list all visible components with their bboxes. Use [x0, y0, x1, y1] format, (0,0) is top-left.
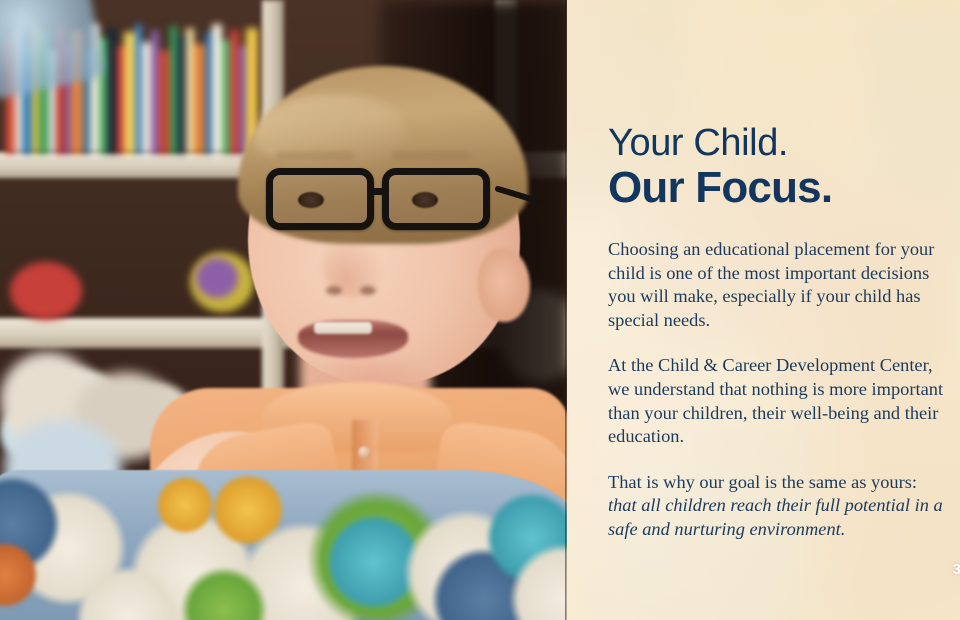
- body-copy: Choosing an educational placement for yo…: [608, 238, 944, 542]
- paragraph-3-lead: That is why our goal is the same as your…: [608, 472, 917, 492]
- ear: [478, 248, 530, 322]
- brochure-spread: Your Child. Our Focus. Choosing an educa…: [0, 0, 960, 620]
- glasses-bridge: [370, 188, 388, 195]
- paragraph-1: Choosing an educational placement for yo…: [608, 238, 944, 332]
- page-number: 3: [953, 561, 960, 578]
- headline-line-2: Our Focus.: [608, 164, 938, 212]
- nostril-right: [360, 286, 376, 295]
- paragraph-3-italic: that all children reach their full poten…: [608, 495, 943, 539]
- text-panel: Your Child. Our Focus. Choosing an educa…: [567, 0, 960, 620]
- paragraph-3: That is why our goal is the same as your…: [608, 471, 944, 542]
- eye-right: [412, 192, 438, 208]
- teeth: [314, 322, 372, 334]
- page-title: Your Child. Our Focus.: [608, 122, 938, 212]
- shirt-button: [358, 446, 371, 459]
- nostril-left: [326, 286, 342, 295]
- floral-blanket: [0, 470, 567, 620]
- text-content: Your Child. Our Focus. Choosing an educa…: [608, 0, 938, 620]
- headline-line-1: Your Child.: [608, 122, 938, 164]
- eyebrow-right: [392, 152, 470, 160]
- eye-left: [298, 192, 324, 208]
- eyebrow-left: [276, 152, 354, 160]
- blanket-motif: [156, 476, 214, 534]
- hero-photo: [0, 0, 567, 620]
- paragraph-2: At the Child & Career Development Center…: [608, 354, 944, 448]
- eyeglasses: [266, 168, 516, 234]
